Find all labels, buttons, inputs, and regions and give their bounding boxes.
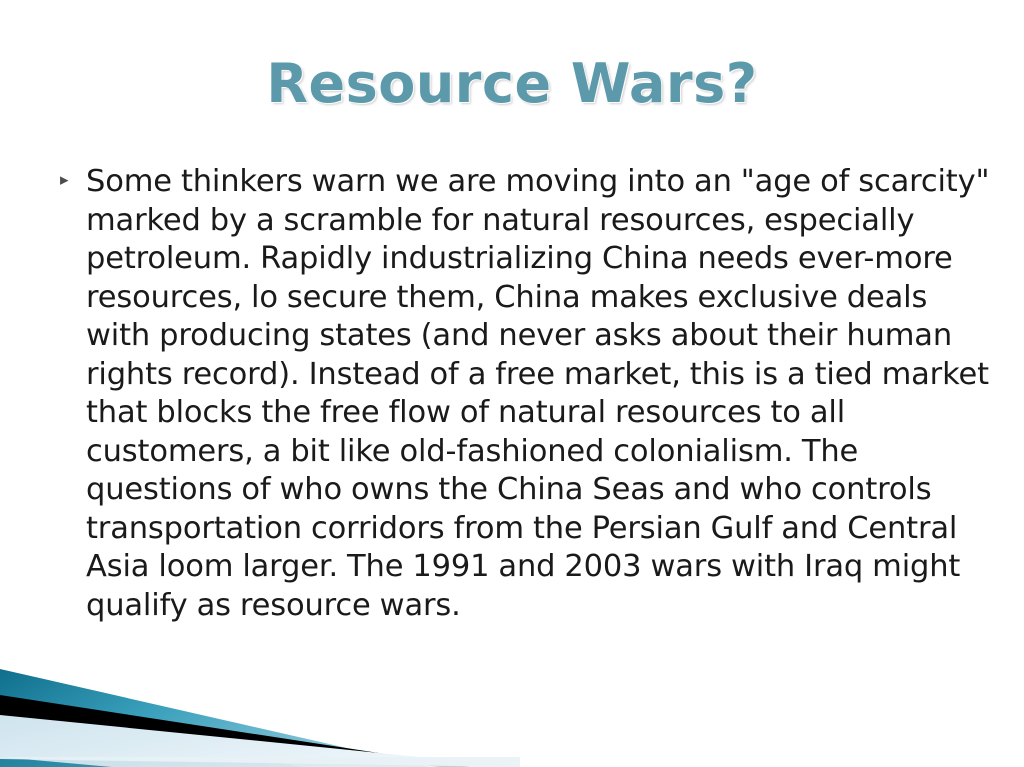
page-title: Resource Wars? xyxy=(0,52,1024,115)
bullet-triangle-icon: ▸ xyxy=(60,163,86,189)
decorative-corner-graphic xyxy=(0,607,520,767)
slide-body: ▸ Some thinkers warn we are moving into … xyxy=(60,163,990,625)
slide-canvas: Resource Wars? ▸ Some thinkers warn we a… xyxy=(0,0,1024,767)
list-item: ▸ Some thinkers warn we are moving into … xyxy=(60,163,990,625)
bullet-paragraph: Some thinkers warn we are moving into an… xyxy=(86,163,990,625)
